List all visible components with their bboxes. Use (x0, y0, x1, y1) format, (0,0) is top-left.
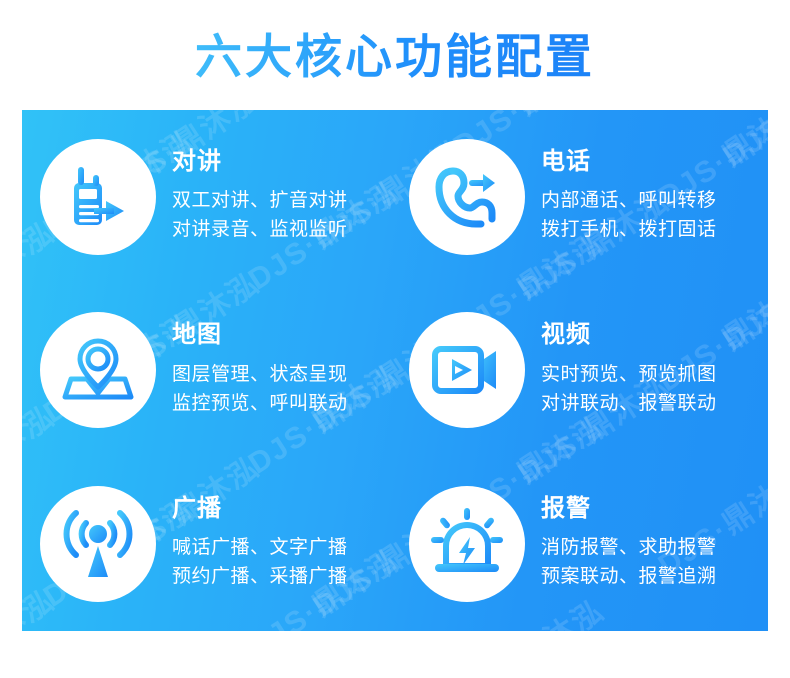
feature-line-1: 喊话广播、文字广播 (172, 534, 348, 563)
watermark-row: DJS·鼎沐泓DJS·鼎沐泓DJS·鼎沐泓DJS·鼎沐泓DJS·鼎沐泓DJS·鼎… (0, 0, 790, 12)
feature-line-2: 预约广播、采播广播 (172, 563, 348, 592)
feature-line-2: 对讲录音、监视监听 (172, 216, 348, 245)
feature-card-broadcast[interactable]: 广播 喊话广播、文字广播 预约广播、采播广播 (22, 457, 395, 631)
feature-text-phone: 电话 内部通话、呼叫转移 拨打手机、拨打固话 (525, 149, 717, 245)
feature-line-1: 消防报警、求助报警 (541, 534, 717, 563)
feature-line-1: 实时预览、预览抓图 (541, 361, 717, 390)
feature-card-video[interactable]: 视频 实时预览、预览抓图 对讲联动、报警联动 (395, 284, 768, 458)
feature-line-1: 图层管理、状态呈现 (172, 361, 348, 390)
feature-line-2: 拨打手机、拨打固话 (541, 216, 717, 245)
feature-line-2: 监控预览、呼叫联动 (172, 390, 348, 419)
feature-line-1: 双工对讲、扩音对讲 (172, 187, 348, 216)
page-title: 六大核心功能配置 (195, 18, 595, 87)
feature-card-alarm[interactable]: 报警 消防报警、求助报警 预案联动、报警追溯 (395, 457, 768, 631)
walkie-talkie-icon (40, 139, 156, 255)
feature-overview-page: 六大核心功能配置 对讲 双工对讲、扩音对讲 (0, 0, 790, 678)
feature-line-2: 对讲联动、报警联动 (541, 390, 717, 419)
feature-card-intercom[interactable]: 对讲 双工对讲、扩音对讲 对讲录音、监视监听 (22, 110, 395, 284)
watermark-text: DJS·鼎沐泓 (33, 669, 202, 678)
feature-title: 电话 (541, 149, 717, 175)
feature-text-intercom: 对讲 双工对讲、扩音对讲 对讲录音、监视监听 (156, 149, 348, 245)
feature-grid: 对讲 双工对讲、扩音对讲 对讲录音、监视监听 电话 内部通话、呼叫转移 拨打手机… (22, 110, 768, 631)
feature-card-phone[interactable]: 电话 内部通话、呼叫转移 拨打手机、拨打固话 (395, 110, 768, 284)
feature-text-alarm: 报警 消防报警、求助报警 预案联动、报警追溯 (525, 496, 717, 592)
feature-line-2: 预案联动、报警追溯 (541, 563, 717, 592)
feature-title: 广播 (172, 496, 348, 522)
feature-title: 地图 (172, 322, 348, 348)
feature-text-video: 视频 实时预览、预览抓图 对讲联动、报警联动 (525, 322, 717, 418)
feature-title: 视频 (541, 322, 717, 348)
feature-title: 对讲 (172, 149, 348, 175)
page-title-wrap: 六大核心功能配置 (0, 18, 790, 87)
feature-line-1: 内部通话、呼叫转移 (541, 187, 717, 216)
watermark-text: DJS·鼎沐泓 (98, 628, 267, 678)
feature-title: 报警 (541, 496, 717, 522)
feature-card-map[interactable]: 地图 图层管理、状态呈现 监控预览、呼叫联动 (22, 284, 395, 458)
map-pin-icon (40, 312, 156, 428)
video-camera-icon (409, 312, 525, 428)
feature-text-map: 地图 图层管理、状态呈现 监控预览、呼叫联动 (156, 322, 348, 418)
feature-text-broadcast: 广播 喊话广播、文字广播 预约广播、采播广播 (156, 496, 348, 592)
phone-forward-icon (409, 139, 525, 255)
siren-alarm-icon (409, 486, 525, 602)
broadcast-tower-icon (40, 486, 156, 602)
